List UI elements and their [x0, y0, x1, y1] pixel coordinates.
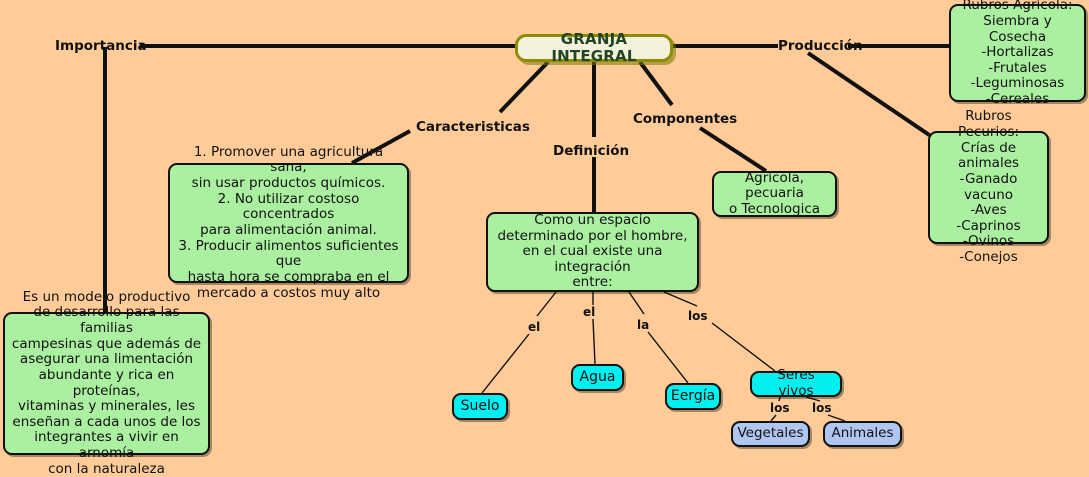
- link-label-importancia: Importancia: [55, 38, 147, 54]
- link-label-produccion: Producción: [778, 38, 863, 54]
- link-componentes-box: [700, 128, 766, 171]
- link-definicion-agua: [593, 319, 595, 364]
- node-suelo[interactable]: Suelo: [452, 393, 508, 420]
- node-agua[interactable]: Agua: [571, 364, 624, 391]
- link-definicion-suelo: [482, 334, 529, 393]
- node-rubros-pecurios[interactable]: Rubros Pecurios: Crías de animales -Gana…: [928, 131, 1049, 244]
- node-energia[interactable]: Eergía: [665, 383, 721, 410]
- link-label-caracteristicas: Caracteristicas: [416, 119, 530, 135]
- node-caracteristicas[interactable]: 1. Promover una agricultura sana, sin us…: [168, 163, 409, 283]
- link-label-el-suelo: el: [528, 320, 540, 334]
- link-label-definicion: Definición: [553, 143, 629, 159]
- node-rubros-agricola[interactable]: Rubros Agrícola: Siembra y Cosecha -Hort…: [949, 4, 1086, 102]
- link-label-componentes: Componentes: [633, 111, 737, 127]
- node-seres-vivos[interactable]: Seres vivos: [750, 371, 842, 397]
- concept-map-canvas: Importancia Producción Caracteristicas D…: [0, 0, 1089, 458]
- node-importancia[interactable]: Es un modelo productivo de desarrollo pa…: [3, 312, 210, 455]
- link-definicion-el1-a: [537, 292, 556, 316]
- link-label-los-animales: los: [812, 401, 832, 415]
- link-definicion-seres: [712, 323, 775, 371]
- link-granja-caracteristicas-a: [500, 62, 548, 112]
- link-label-los-vegetales: los: [770, 401, 790, 415]
- link-definicion-la-a: [629, 292, 644, 314]
- node-definicion[interactable]: Como un espacio determinado por el hombr…: [486, 212, 699, 292]
- link-definicion-los1-a: [664, 292, 697, 306]
- link-label-los-seres: los: [688, 309, 708, 323]
- node-componentes[interactable]: Agrícola, pecuaria o Tecnologica: [712, 171, 837, 217]
- link-granja-componentes-a: [640, 62, 672, 105]
- node-granja-integral[interactable]: GRANJA INTEGRAL: [515, 34, 673, 62]
- link-definicion-energia: [648, 332, 688, 383]
- node-vegetales[interactable]: Vegetales: [731, 421, 810, 447]
- node-animales[interactable]: Animales: [823, 421, 902, 447]
- link-label-la-energia: la: [637, 318, 649, 332]
- link-label-el-agua: el: [583, 305, 595, 319]
